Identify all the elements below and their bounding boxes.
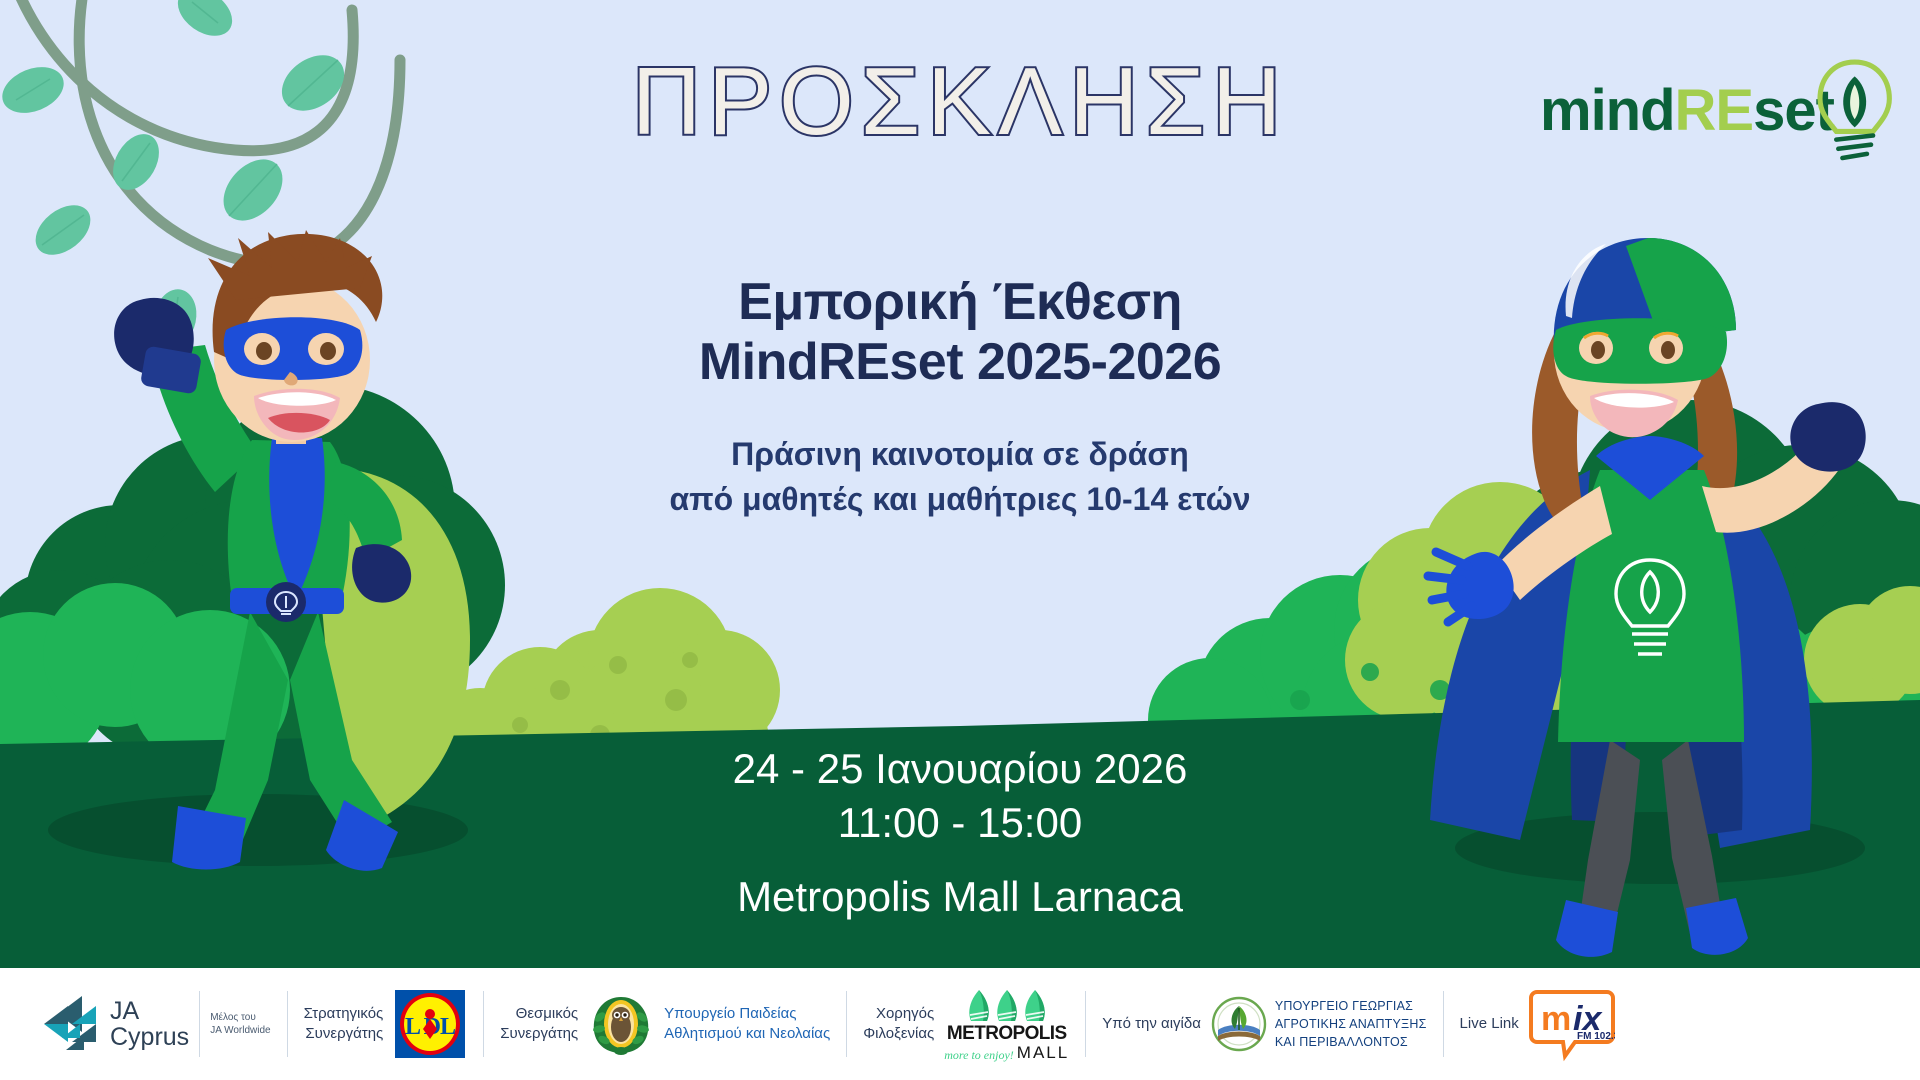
poster-scene: mindREset ΠΡΟΣΚΛΗΣΗ Εμπορική Έκθεση Mind… xyxy=(0,0,1920,968)
ministry-of-education-logo: Υπουργείο Παιδείας Αθλητισμού και Νεολαί… xyxy=(588,991,830,1057)
sponsor-lidl[interactable]: Στρατηγικός Συνεργάτης L DL xyxy=(298,968,474,1080)
lidl-mark-icon: L DL xyxy=(393,988,467,1060)
divider xyxy=(287,991,288,1057)
metropolis-mall-word: MALL xyxy=(1017,1044,1069,1061)
lidl-logo: L DL xyxy=(393,988,467,1060)
metropolis-trees-icon xyxy=(957,988,1057,1024)
poster-root: mindREset ΠΡΟΣΚΛΗΣΗ Εμπορική Έκθεση Mind… xyxy=(0,0,1920,1080)
divider xyxy=(483,991,484,1057)
sponsor-label-auspices: Υπό την αιγίδα xyxy=(1102,1014,1211,1034)
metropolis-mall-logo: METROPOLIS more to enjoy! MALL xyxy=(944,988,1069,1061)
ja-cyprus-logo: JA Cyprus xyxy=(42,994,189,1054)
sponsor-ja-cyprus[interactable]: JA Cyprus Μέλος του JA Worldwide xyxy=(0,968,277,1080)
ministry-agriculture-name: ΥΠΟΥΡΓΕΙΟ ΓΕΩΡΓΙΑΣ ΑΓΡΟΤΙΚΗΣ ΑΝΑΠΤΥΞΗΣ Κ… xyxy=(1267,997,1427,1051)
svg-text:mindREset: mindREset xyxy=(1540,78,1835,143)
ministry-agriculture-emblem-icon xyxy=(1211,996,1267,1052)
divider xyxy=(846,991,847,1057)
mindreset-logo[interactable]: mindREset xyxy=(0,0,1920,968)
logo-part-mind: mind xyxy=(1540,78,1675,143)
metropolis-wordmark: METROPOLIS xyxy=(947,1024,1067,1043)
svg-text:FM 102.3: FM 102.3 xyxy=(1577,1031,1615,1042)
sponsor-label-live-link: Live Link xyxy=(1460,1014,1529,1034)
divider xyxy=(1443,991,1444,1057)
logo-part-re: RE xyxy=(1675,78,1754,143)
mix-fm-mark-icon: m ix FM 102.3 xyxy=(1529,986,1615,1062)
ja-worldwide-note: Μέλος του JA Worldwide xyxy=(210,1011,270,1038)
sponsor-label-strategic: Στρατηγικός Συνεργάτης xyxy=(304,1004,394,1045)
mix-fm-logo: m ix FM 102.3 xyxy=(1529,986,1615,1062)
divider xyxy=(1085,991,1086,1057)
sponsor-label-institutional: Θεσμικός Συνεργάτης xyxy=(500,1004,588,1045)
metropolis-tagline: more to enjoy! xyxy=(944,1049,1014,1061)
sponsor-mix-fm[interactable]: Live Link m ix FM 102.3 xyxy=(1454,968,1645,1080)
sponsor-metropolis-mall[interactable]: Χορηγός Φιλοξενίας xyxy=(857,968,1075,1080)
ministry-education-owl-icon xyxy=(588,991,654,1057)
sponsor-label-hosting: Χορηγός Φιλοξενίας xyxy=(863,1004,944,1045)
sponsor-ministry-education[interactable]: Θεσμικός Συνεργάτης xyxy=(494,968,836,1080)
ja-cyprus-mark-icon xyxy=(42,994,100,1054)
ministry-of-agriculture-logo: ΥΠΟΥΡΓΕΙΟ ΓΕΩΡΓΙΑΣ ΑΓΡΟΤΙΚΗΣ ΑΝΑΠΤΥΞΗΣ Κ… xyxy=(1211,996,1427,1052)
sponsors-footer: JA Cyprus Μέλος του JA Worldwide Στρατηγ… xyxy=(0,968,1920,1080)
ja-cyprus-wordmark: JA Cyprus xyxy=(100,998,189,1050)
ministry-education-name: Υπουργείο Παιδείας Αθλητισμού και Νεολαί… xyxy=(654,1004,830,1045)
sponsor-ministry-agriculture[interactable]: Υπό την αιγίδα ΥΠΟΥΡΓΕΙΟ ΓΕΩΡΓΙΑΣ ΑΓΡΟΤΙ… xyxy=(1096,968,1432,1080)
mix-letter-m: m xyxy=(1541,1000,1571,1038)
divider xyxy=(199,991,200,1057)
